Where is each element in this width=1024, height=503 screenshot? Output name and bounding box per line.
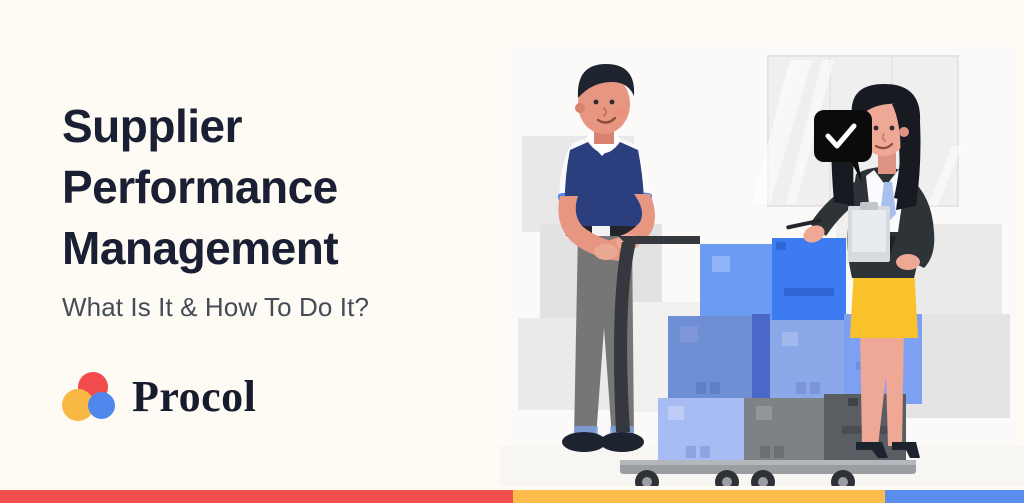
banner-root: Supplier Performance Management What Is … [0,0,1024,503]
brand-wordmark: Procol [132,375,256,419]
color-bar-segment-blue [885,490,1024,503]
logo-circle-blue-icon [88,392,115,419]
hero-illustration [500,46,1024,486]
color-bar-segment-yellow [513,490,885,503]
brand-logo[interactable]: Procol [62,372,256,422]
text-column: Supplier Performance Management What Is … [62,96,502,323]
box-mid-center [770,320,844,404]
page-title: Supplier Performance Management [62,96,502,280]
page-subtitle: What Is It & How To Do It? [62,292,502,323]
color-bar-segment-red [0,490,513,503]
brand-color-bar [0,490,1024,503]
procol-logo-icon [62,372,118,422]
